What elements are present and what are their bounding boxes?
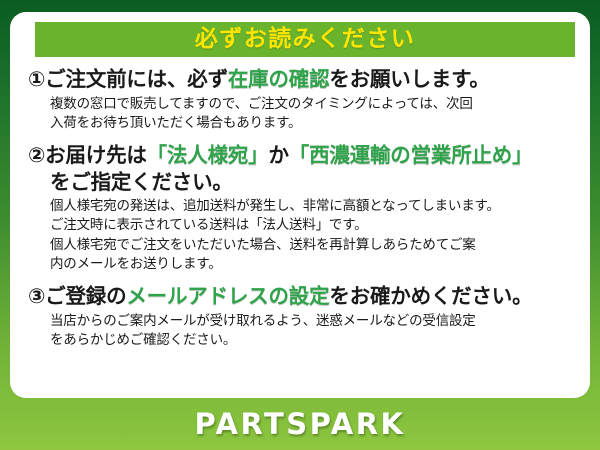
- notice-item-3: ③ご登録のメールアドレスの設定をお確かめください。 当店からのご案内メールが受け…: [28, 283, 574, 350]
- notice-item-1-body: 複数の窓口で販売してますので、ご注文のタイミングによっては、次回 入荷をお待ち頂…: [28, 95, 574, 133]
- notice-item-3-heading-text-a: ご登録の: [45, 284, 126, 308]
- notice-item-2-heading-text-a: お届け先は: [45, 143, 147, 167]
- header-banner: 必ずお読みください: [35, 22, 575, 57]
- notice-item-2-number: ②: [28, 143, 45, 167]
- notice-item-2-body-line-4: 内のメールをお送りします。: [50, 255, 574, 274]
- notice-item-1-heading-highlight: 在庫の確認: [228, 67, 330, 91]
- notice-item-1: ①ご注文前には、必ず在庫の確認をお願いします。 複数の窓口で販売してますので、ご…: [28, 66, 574, 133]
- notice-item-3-body-line-2: をあらかじめご確認ください。: [50, 331, 574, 350]
- notice-item-2-heading-highlight-2: 「西濃運輸の営業所止め」: [289, 143, 533, 167]
- notice-poster: 必ずお読みください ①ご注文前には、必ず在庫の確認をお願いします。 複数の窓口で…: [0, 0, 600, 450]
- notice-item-3-number: ③: [28, 284, 45, 308]
- notice-item-1-heading-text-b: をお願いします。: [329, 67, 489, 91]
- notice-item-3-body: 当店からのご案内メールが受け取れるよう、迷惑メールなどの受信設定 をあらかじめご…: [28, 312, 574, 350]
- notice-items-list: ①ご注文前には、必ず在庫の確認をお願いします。 複数の窓口で販売してますので、ご…: [24, 66, 576, 350]
- notice-item-3-body-line-1: 当店からのご案内メールが受け取れるよう、迷惑メールなどの受信設定: [50, 312, 574, 331]
- notice-item-2-body: 個人様宅宛の発送は、追加送料が発生し、非常に高額となってしまいます。 ご注文時に…: [28, 197, 574, 274]
- notice-item-2: ②お届け先は「法人様宛」か「西濃運輸の営業所止め」をご指定ください。 個人様宅宛…: [28, 142, 574, 274]
- notice-item-2-heading-highlight-1: 「法人様宛」: [147, 143, 269, 167]
- footer-brand-bar: PARTSPARK: [0, 398, 600, 450]
- page-title: 必ずお読みください: [195, 28, 416, 51]
- notice-item-1-body-line-2: 入荷をお待ち頂いただく場合もあります。: [50, 114, 574, 133]
- notice-item-1-heading-text-a: ご注文前には、必ず: [45, 67, 228, 91]
- notice-item-1-heading: ①ご注文前には、必ず在庫の確認をお願いします。: [28, 66, 574, 93]
- notice-item-2-heading-text-mid: か: [268, 143, 288, 167]
- notice-item-1-body-line-1: 複数の窓口で販売してますので、ご注文のタイミングによっては、次回: [50, 95, 574, 114]
- brand-logo-text: PARTSPARK: [194, 410, 405, 439]
- notice-card: 必ずお読みください ①ご注文前には、必ず在庫の確認をお願いします。 複数の窓口で…: [10, 12, 590, 398]
- notice-item-2-heading: ②お届け先は「法人様宛」か「西濃運輸の営業所止め」をご指定ください。: [28, 142, 574, 195]
- notice-item-3-heading-text-b: をお確かめください。: [329, 284, 532, 308]
- notice-item-2-heading-line-2: をご指定ください。: [28, 169, 574, 196]
- notice-item-3-heading: ③ご登録のメールアドレスの設定をお確かめください。: [28, 283, 574, 310]
- notice-item-1-number: ①: [28, 67, 45, 91]
- notice-item-2-body-line-1: 個人様宅宛の発送は、追加送料が発生し、非常に高額となってしまいます。: [50, 197, 574, 216]
- notice-item-3-heading-highlight: メールアドレスの設定: [126, 284, 329, 308]
- notice-item-2-body-line-2: ご注文時に表示されている送料は「法人送料」です。: [50, 216, 574, 235]
- notice-item-2-body-line-3: 個人様宅宛でご注文をいただいた場合、送料を再計算しあらためてご案: [50, 236, 574, 255]
